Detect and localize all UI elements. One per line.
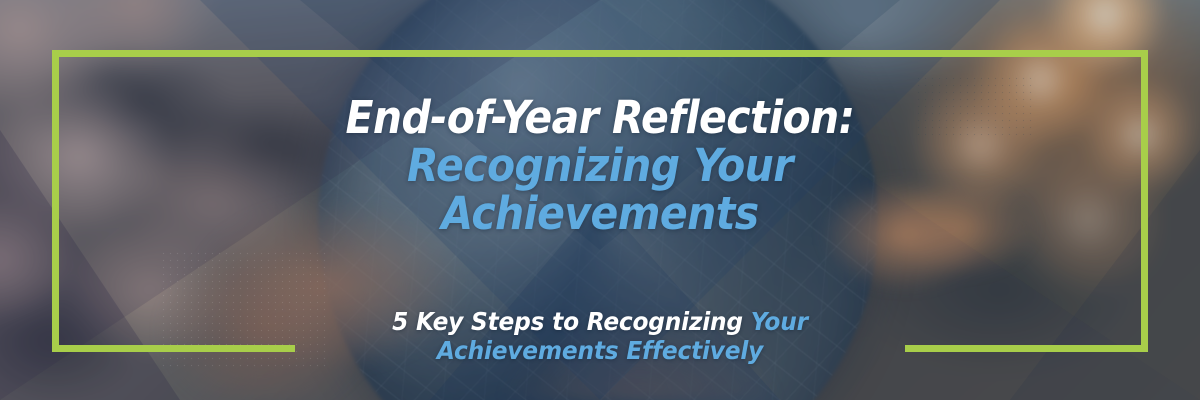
headline-line-1: End-of-Year Reflection: bbox=[54, 94, 1146, 142]
headline-line-2: Recognizing Your bbox=[54, 142, 1146, 190]
subtitle-part-white: 5 Key Steps to Recognizing bbox=[392, 307, 751, 336]
page-title: End-of-Year Reflection: Recognizing Your… bbox=[54, 94, 1146, 238]
headline-line-3: Achievements bbox=[54, 190, 1146, 238]
banner: End-of-Year Reflection: Recognizing Your… bbox=[0, 0, 1200, 400]
subtitle-part-blue: Your bbox=[751, 307, 808, 336]
subtitle: 5 Key Steps to Recognizing Your Achievem… bbox=[42, 308, 1158, 365]
subtitle-line-2: Achievements Effectively bbox=[42, 337, 1158, 366]
banner-content: End-of-Year Reflection: Recognizing Your… bbox=[0, 0, 1200, 400]
